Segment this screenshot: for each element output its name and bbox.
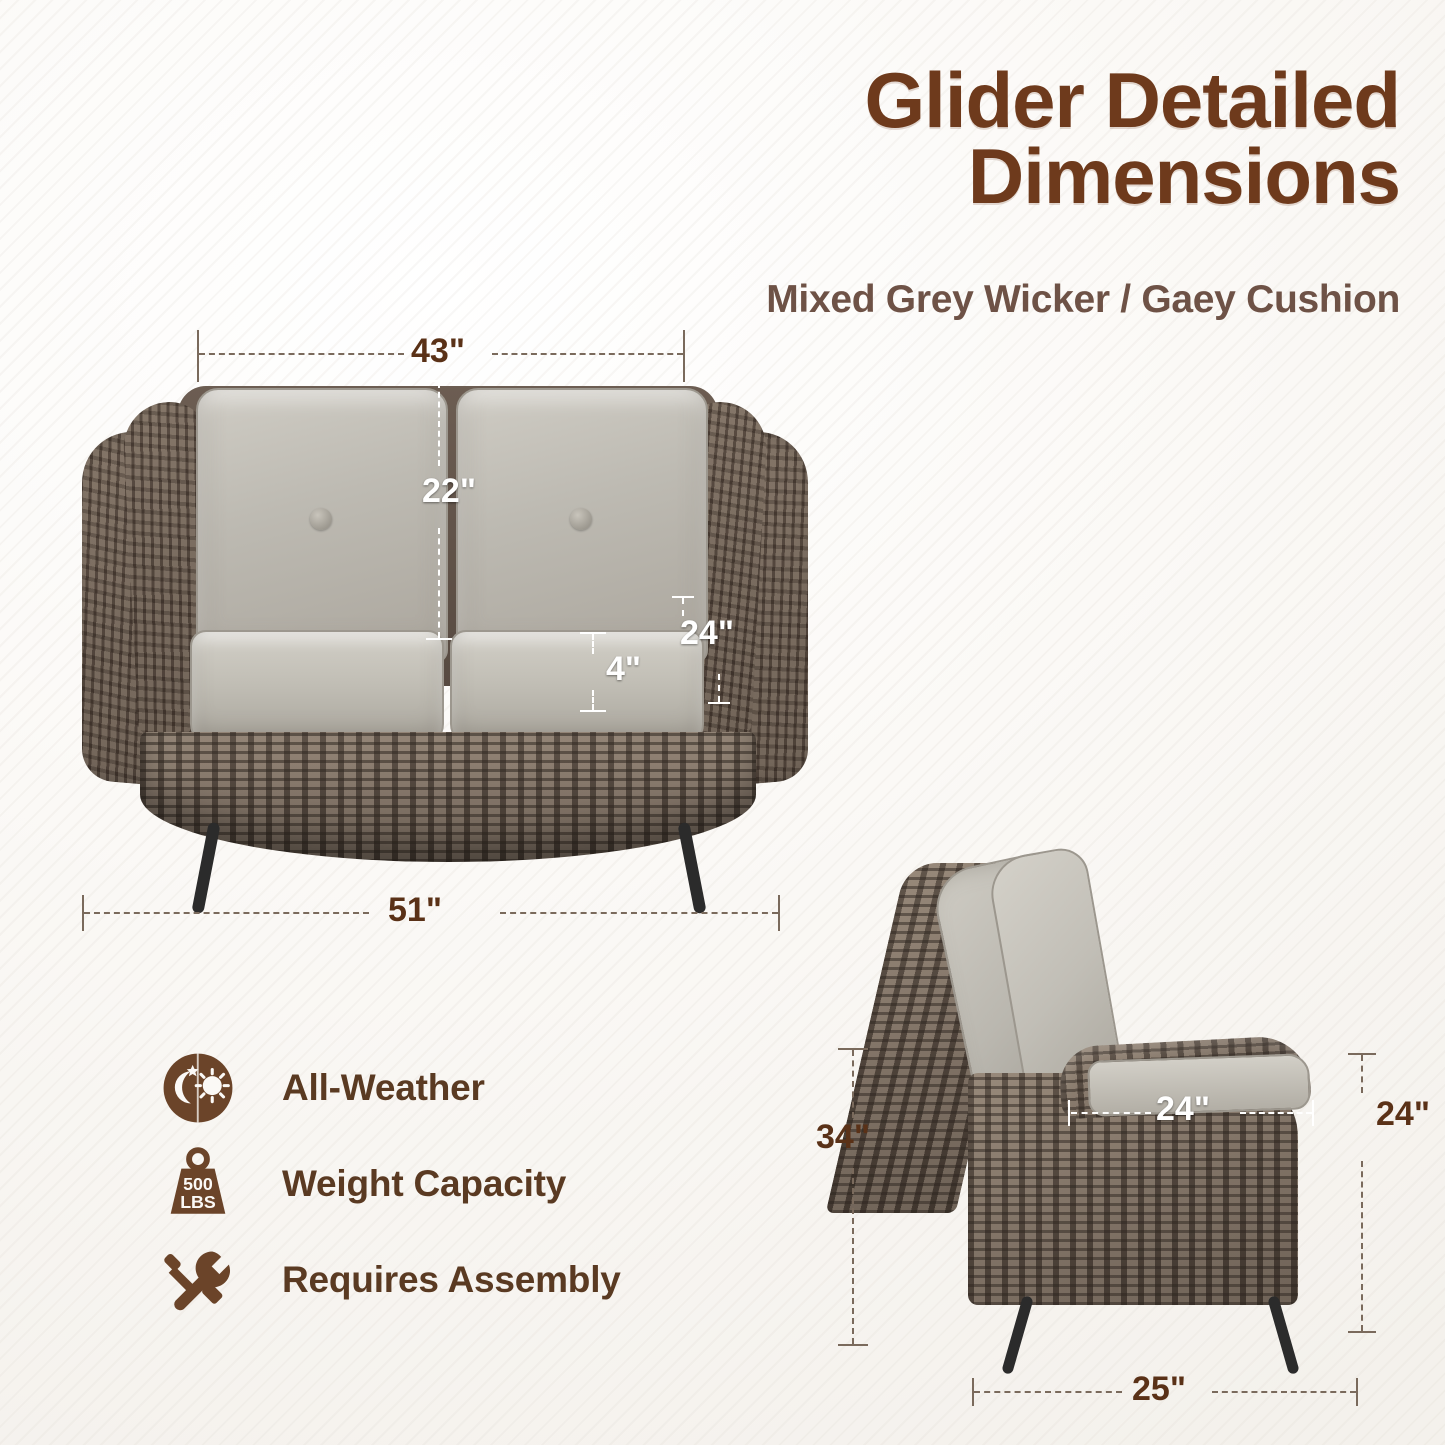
dimension-side-depth-overall: 25" — [972, 1378, 1360, 1418]
dimension-side-seat-height: 24" — [1338, 1053, 1434, 1335]
dimension-label-34: 34" — [816, 1118, 870, 1157]
dimension-label-22: 22" — [422, 472, 476, 511]
back-cushion-right — [456, 388, 708, 664]
dimension-line — [438, 382, 440, 466]
tuft-button — [570, 508, 592, 530]
dimension-line — [592, 634, 594, 654]
dimension-side-overall-height: 34" — [820, 1048, 940, 1348]
dimension-tick — [580, 710, 606, 712]
dimension-tick — [1356, 1378, 1358, 1406]
tools-icon — [160, 1242, 236, 1318]
dimension-tick — [838, 1344, 868, 1346]
tuft-button — [310, 508, 332, 530]
dimension-label-25: 25" — [1132, 1370, 1186, 1409]
dimension-line — [1361, 1055, 1363, 1093]
dimension-line — [199, 353, 404, 355]
dimension-line — [1361, 1161, 1363, 1331]
dimension-line — [1071, 1112, 1151, 1114]
dimension-tick — [683, 330, 685, 382]
dimension-label-24-side-height: 24" — [1376, 1095, 1430, 1134]
dimension-front-cushion-thickness: 4" — [568, 632, 652, 714]
dimension-line — [438, 528, 440, 638]
dimension-tick — [778, 895, 780, 931]
dimension-label-24-front: 24" — [680, 614, 734, 653]
dimension-front-back-height: 22" — [400, 380, 490, 642]
dimension-line — [592, 690, 594, 710]
page-title: Glider Detailed Dimensions — [520, 62, 1400, 215]
dimension-line — [1240, 1112, 1312, 1114]
dimension-label-24-side-depth: 24" — [1156, 1090, 1210, 1129]
dimension-line — [852, 1050, 854, 1118]
dimension-label-51: 51" — [388, 891, 442, 930]
dimension-tick — [1068, 1100, 1070, 1126]
feature-item-all-weather: All-Weather — [160, 1050, 485, 1126]
side-leg-front — [1001, 1295, 1034, 1375]
feature-label-requires-assembly: Requires Assembly — [282, 1259, 621, 1301]
dimension-line — [492, 353, 683, 355]
dimension-tick — [197, 330, 199, 382]
dimension-line — [1212, 1391, 1356, 1393]
page-subtitle: Mixed Grey Wicker / Gaey Cushion — [520, 278, 1400, 322]
dimension-label-4: 4" — [606, 650, 641, 689]
infographic-canvas: Glider Detailed Dimensions Mixed Grey Wi… — [0, 0, 1445, 1445]
dimension-tick — [426, 638, 452, 640]
dimension-line — [84, 912, 369, 914]
weight-icon: 500 LBS — [160, 1146, 236, 1222]
feature-item-weight-capacity: 500 LBS Weight Capacity — [160, 1146, 566, 1222]
dimension-tick — [1348, 1331, 1376, 1333]
dimension-line — [852, 1168, 854, 1344]
day-night-icon — [160, 1050, 236, 1126]
page-title-line1: Glider Detailed — [865, 56, 1401, 144]
dimension-line — [974, 1391, 1122, 1393]
weight-badge-unit: LBS — [180, 1192, 216, 1212]
dimension-line — [718, 674, 720, 702]
dimension-front-width-overall: 51" — [82, 895, 782, 939]
feature-label-weight-capacity: Weight Capacity — [282, 1163, 566, 1205]
dimension-label-43: 43" — [411, 332, 465, 371]
dimension-side-seat-depth: 24" — [1068, 1098, 1316, 1144]
page-title-line2: Dimensions — [520, 138, 1400, 214]
front-wicker-base — [140, 732, 756, 862]
feature-label-all-weather: All-Weather — [282, 1067, 485, 1109]
seat-cushion-left — [190, 630, 444, 746]
dimension-line — [500, 912, 778, 914]
side-leg-back — [1267, 1295, 1300, 1375]
dimension-tick — [1312, 1100, 1314, 1126]
feature-item-requires-assembly: Requires Assembly — [160, 1242, 621, 1318]
dimension-front-seat-height: 24" — [672, 596, 758, 706]
dimension-tick — [708, 702, 730, 704]
